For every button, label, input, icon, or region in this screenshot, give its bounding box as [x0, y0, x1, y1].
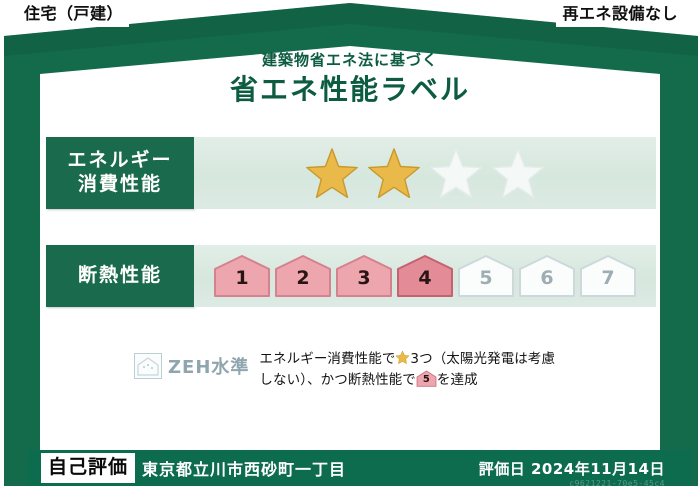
housing-type-tag: 住宅（戸建）	[18, 2, 129, 27]
insulation-grade-4: 4	[396, 254, 454, 298]
house-shape-icon	[457, 254, 515, 298]
insulation-grade-1: 1	[213, 254, 271, 298]
house-shape-icon	[579, 254, 637, 298]
energy-label-line1: エネルギー	[67, 149, 172, 173]
energy-performance-label: 住宅（戸建） 再エネ設備なし 建築物省エネ法に基づく 省エネ性能ラベル エネルギ…	[0, 0, 700, 494]
insulation-grade-7: 7	[579, 254, 637, 298]
house-shape-icon	[213, 254, 271, 298]
achievement-note-text: エネルギー消費性能で3つ（太陽光発電は考慮しない）、かつ断熱性能で5を達成	[259, 345, 559, 391]
insulation-grade-6: 6	[518, 254, 576, 298]
house-shape-icon	[396, 254, 454, 298]
evaluation-date: 評価日 2024年11月14日	[479, 458, 665, 479]
insulation-performance-label: 断熱性能	[46, 245, 194, 307]
insulation-performance-row: 断熱性能 1234567	[46, 245, 656, 307]
evaluation-date-label: 評価日	[479, 460, 526, 478]
evaluation-type-badge: 自己評価	[41, 453, 135, 483]
note-text-end: を達成	[437, 372, 478, 388]
renewable-energy-tag: 再エネ設備なし	[556, 2, 684, 27]
property-address: 東京都立川市西砂町一丁目	[142, 456, 346, 480]
star-filled-icon	[304, 146, 360, 200]
evaluation-date-value: 2024年11月14日	[531, 460, 665, 478]
label-title-block: 建築物省エネ法に基づく 省エネ性能ラベル	[0, 52, 700, 105]
label-title: 省エネ性能ラベル	[0, 75, 700, 106]
note-text-before: エネルギー消費性能で	[259, 351, 395, 367]
scan-watermark: c9621221-70e5-45c4	[569, 479, 665, 488]
house-shape-icon	[274, 254, 332, 298]
energy-consumption-row: エネルギー 消費性能	[46, 137, 656, 209]
zeh-house-icon	[134, 353, 162, 379]
insulation-grade-scale: 1234567	[194, 245, 656, 307]
star-empty-icon	[428, 146, 484, 200]
inline-star-icon	[395, 350, 410, 365]
insulation-label-text: 断熱性能	[78, 264, 162, 288]
star-filled-icon	[366, 146, 422, 200]
star-empty-icon	[490, 146, 546, 200]
energy-consumption-label: エネルギー 消費性能	[46, 137, 194, 209]
zeh-note-section: ZEH水準 エネルギー消費性能で3つ（太陽光発電は考慮しない）、かつ断熱性能で5…	[46, 345, 656, 391]
insulation-grade-5: 5	[457, 254, 515, 298]
inline-house-number: 5	[416, 375, 437, 385]
insulation-grade-2: 2	[274, 254, 332, 298]
label-subtitle: 建築物省エネ法に基づく	[0, 52, 700, 69]
label-footer: 自己評価 東京都立川市西砂町一丁目 評価日 2024年11月14日 c96212…	[27, 450, 691, 486]
house-shape-icon	[335, 254, 393, 298]
energy-label-line2: 消費性能	[78, 173, 162, 197]
house-shape-icon	[518, 254, 576, 298]
insulation-grade-3: 3	[335, 254, 393, 298]
zeh-standard-label: ZEH水準	[168, 353, 249, 379]
energy-star-rating	[194, 137, 656, 209]
inline-house-icon: 5	[416, 370, 437, 387]
zeh-standard-block: ZEH水準	[46, 345, 249, 379]
